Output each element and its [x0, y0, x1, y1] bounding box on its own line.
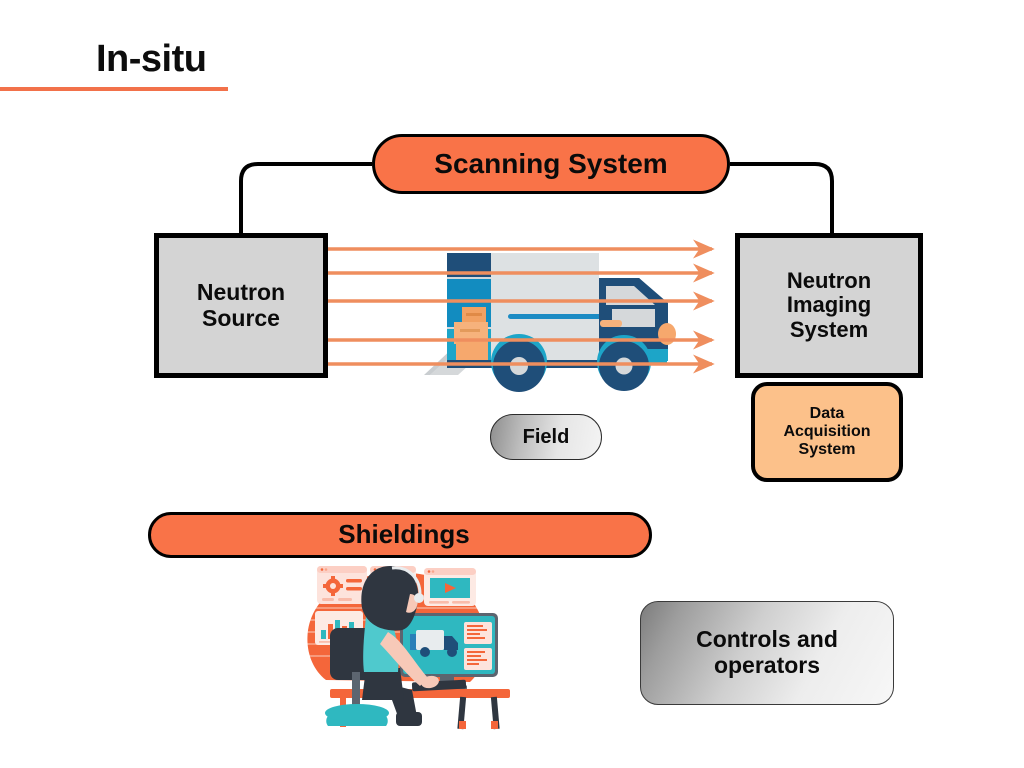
node-shieldings-label: Shieldings — [330, 520, 469, 549]
node-neutron-imaging-system-label: Neutron Imaging System — [787, 269, 871, 343]
node-data-acquisition-system-label: Data Acquisition System — [783, 405, 870, 459]
node-controls-and-operators-label: Controls and operators — [696, 627, 838, 679]
node-neutron-imaging-system[interactable]: Neutron Imaging System — [735, 233, 923, 378]
node-field-label: Field — [523, 426, 570, 448]
diagram-canvas: In-situ — [0, 0, 1024, 768]
node-neutron-source-label: Neutron Source — [197, 280, 285, 332]
node-scanning-system[interactable]: Scanning System — [372, 134, 730, 194]
node-neutron-source[interactable]: Neutron Source — [154, 233, 328, 378]
node-data-acquisition-system[interactable]: Data Acquisition System — [751, 382, 903, 482]
node-controls-and-operators[interactable]: Controls and operators — [640, 601, 894, 705]
node-field[interactable]: Field — [490, 414, 602, 460]
node-scanning-system-label: Scanning System — [434, 148, 667, 179]
node-shieldings[interactable]: Shieldings — [148, 512, 652, 558]
